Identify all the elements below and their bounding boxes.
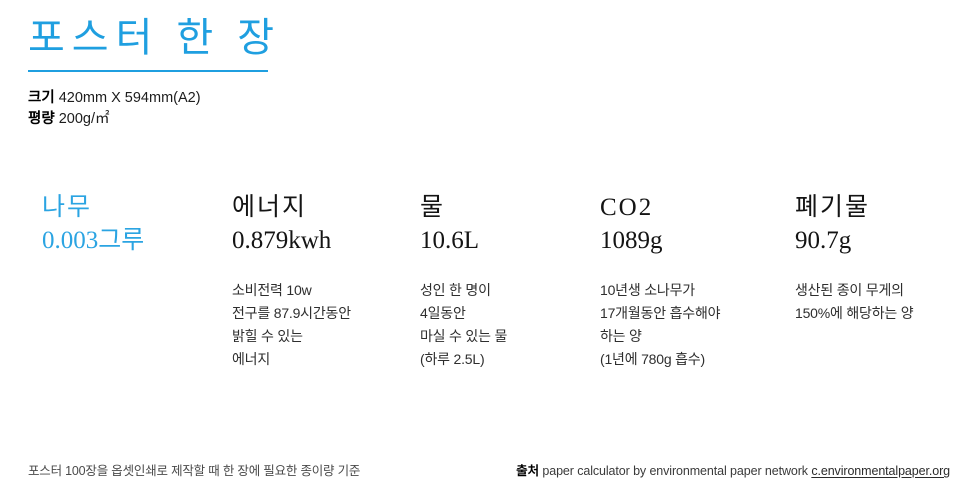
metric-value: 0.879kwh — [232, 224, 412, 257]
description-line: 소비전력 10w — [232, 279, 412, 302]
description-line: 마실 수 있는 물 — [420, 325, 595, 348]
metric-column-tree: 나무 0.003그루 — [42, 192, 222, 279]
description-line: 생산된 종이 무게의 — [795, 279, 960, 302]
metric-description: 10년생 소나무가 17개월동안 흡수해야 하는 양 (1년에 780g 흡수) — [600, 279, 790, 371]
description-line: 전구를 87.9시간동안 — [232, 302, 412, 325]
spec-label-size: 크기 — [28, 90, 55, 106]
metric-column-co2: CO2 1089g 10년생 소나무가 17개월동안 흡수해야 하는 양 (1년… — [600, 192, 790, 371]
metric-value: 1089g — [600, 224, 790, 257]
spec-list: 크기 420mm X 594mm(A2) 평량 200g/㎡ — [28, 88, 201, 130]
spec-value-size: 420mm X 594mm(A2) — [59, 90, 201, 106]
metric-value: 0.003그루 — [42, 224, 222, 257]
description-line: 에너지 — [232, 348, 412, 371]
source-link[interactable]: c.environmentalpaper.org — [811, 464, 950, 478]
description-line: 하는 양 — [600, 325, 790, 348]
metric-description: 생산된 종이 무게의 150%에 해당하는 양 — [795, 279, 960, 325]
metrics-row: 나무 0.003그루 에너지 0.879kwh 소비전력 10w 전구를 87.… — [0, 192, 964, 392]
metric-column-water: 물 10.6L 성인 한 명이 4일동안 마실 수 있는 물 (하루 2.5L) — [420, 192, 595, 371]
metric-name: 폐기물 — [795, 192, 960, 224]
spec-row-weight: 평량 200g/㎡ — [28, 109, 201, 130]
spec-row-size: 크기 420mm X 594mm(A2) — [28, 88, 201, 109]
metric-value: 10.6L — [420, 224, 595, 257]
footer-note: 포스터 100장을 옵셋인쇄로 제작할 때 한 장에 필요한 종이량 기준 — [28, 462, 360, 480]
description-line: (하루 2.5L) — [420, 348, 595, 371]
metric-name: 물 — [420, 192, 595, 224]
metric-value: 90.7g — [795, 224, 960, 257]
poster-infographic: 포스터 한 장 크기 420mm X 594mm(A2) 평량 200g/㎡ 나… — [0, 0, 964, 504]
description-line: 17개월동안 흡수해야 — [600, 302, 790, 325]
description-line: 150%에 해당하는 양 — [795, 302, 960, 325]
metric-column-energy: 에너지 0.879kwh 소비전력 10w 전구를 87.9시간동안 밝힐 수 … — [232, 192, 412, 371]
description-line: 성인 한 명이 — [420, 279, 595, 302]
description-line: (1년에 780g 흡수) — [600, 348, 790, 371]
poster-header: 포스터 한 장 — [28, 12, 528, 72]
metric-description: 성인 한 명이 4일동안 마실 수 있는 물 (하루 2.5L) — [420, 279, 595, 371]
metric-name: 에너지 — [232, 192, 412, 224]
spec-label-weight: 평량 — [28, 111, 55, 127]
metric-name: CO2 — [600, 192, 790, 224]
metric-description: 소비전력 10w 전구를 87.9시간동안 밝힐 수 있는 에너지 — [232, 279, 412, 371]
spec-value-weight: 200g/㎡ — [59, 111, 110, 127]
metric-column-waste: 폐기물 90.7g 생산된 종이 무게의 150%에 해당하는 양 — [795, 192, 960, 325]
description-line: 밝힐 수 있는 — [232, 325, 412, 348]
description-line: 4일동안 — [420, 302, 595, 325]
description-line: 10년생 소나무가 — [600, 279, 790, 302]
source-text: paper calculator by environmental paper … — [542, 464, 808, 478]
page-title: 포스터 한 장 — [28, 12, 528, 64]
source-label: 출처 — [516, 464, 539, 478]
metric-name: 나무 — [42, 192, 222, 224]
footer-source: 출처 paper calculator by environmental pap… — [516, 462, 950, 480]
title-divider — [28, 70, 268, 72]
